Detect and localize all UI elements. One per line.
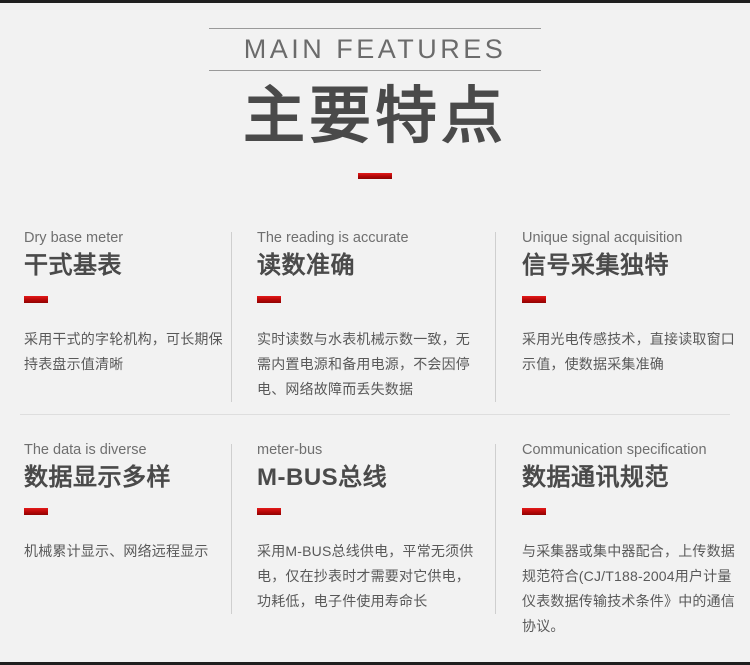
row-divider [20,414,730,415]
feature-accent-bar [257,508,281,515]
feature-description: 机械累计显示、网络远程显示 [24,539,225,564]
header-accent-bar [358,173,392,179]
feature-accent-bar [24,508,48,515]
feature-description: 采用干式的字轮机构，可长期保持表盘示值清晰 [24,327,225,377]
feature-title-cn: M-BUS总线 [257,461,484,494]
feature-description: 采用光电传感技术，直接读取窗口示值，使数据采集准确 [522,327,736,377]
page-header: MAIN FEATURES 主要特点 [0,28,750,179]
row-spacer [0,402,750,440]
feature-label-en: Unique signal acquisition [522,228,736,248]
feature-label-en: The data is diverse [24,440,225,460]
header-title-en: MAIN FEATURES [209,29,541,70]
features-row-1: Dry base meter 干式基表 采用干式的字轮机构，可长期保持表盘示值清… [0,228,750,402]
feature-card-mbus: meter-bus M-BUS总线 采用M-BUS总线供电，平常无须供电，仅在抄… [237,440,500,639]
feature-card-reading-accurate: The reading is accurate 读数准确 实时读数与水表机械示数… [237,228,500,402]
top-edge-bar [0,0,750,3]
feature-card-communication-spec: Communication specification 数据通讯规范 与采集器或… [500,440,750,639]
feature-title-cn: 数据显示多样 [24,461,225,494]
feature-description: 实时读数与水表机械示数一致，无需内置电源和备用电源，不会因停电、网络故障而丢失数… [257,327,484,402]
feature-accent-bar [522,508,546,515]
header-title-cn: 主要特点 [0,79,750,155]
feature-accent-bar [522,296,546,303]
feature-accent-bar [24,296,48,303]
feature-accent-bar [257,296,281,303]
feature-title-cn: 信号采集独特 [522,249,736,282]
header-rule-group: MAIN FEATURES [209,28,541,71]
feature-title-cn: 读数准确 [257,249,484,282]
features-row-2: The data is diverse 数据显示多样 机械累计显示、网络远程显示… [0,440,750,639]
feature-label-en: Communication specification [522,440,736,460]
header-bottom-rule [209,70,541,71]
feature-label-en: The reading is accurate [257,228,484,248]
feature-card-dry-base-meter: Dry base meter 干式基表 采用干式的字轮机构，可长期保持表盘示值清… [0,228,237,402]
feature-description: 与采集器或集中器配合，上传数据规范符合(CJ/T188-2004用户计量仪表数据… [522,539,736,639]
feature-label-en: meter-bus [257,440,484,460]
feature-label-en: Dry base meter [24,228,225,248]
feature-description: 采用M-BUS总线供电，平常无须供电，仅在抄表时才需要对它供电，功耗低，电子件使… [257,539,484,614]
feature-card-signal-acquisition: Unique signal acquisition 信号采集独特 采用光电传感技… [500,228,750,402]
feature-title-cn: 干式基表 [24,249,225,282]
feature-card-data-diverse: The data is diverse 数据显示多样 机械累计显示、网络远程显示 [0,440,237,639]
feature-title-cn: 数据通讯规范 [522,461,736,494]
features-grid: Dry base meter 干式基表 采用干式的字轮机构，可长期保持表盘示值清… [0,228,750,639]
